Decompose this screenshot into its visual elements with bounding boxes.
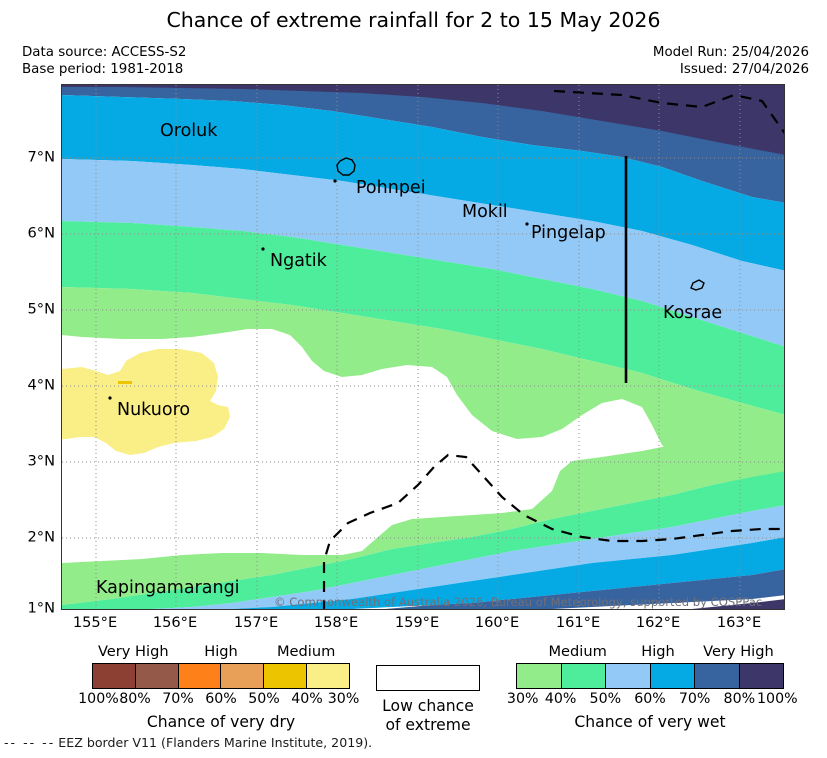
latitude-tick-2N: 2°N	[28, 529, 56, 546]
legend-very-wet-tick-60pct: 60%	[634, 691, 666, 707]
place-dot-nukuoro	[108, 396, 111, 399]
place-label-kosrae: Kosrae	[663, 303, 722, 323]
model-run-text: Model Run: 25/04/2026	[653, 44, 809, 61]
legend-very-dry-tick-40pct: 40%	[291, 691, 323, 707]
place-label-pohnpei: Pohnpei	[356, 178, 426, 198]
legend-low-chance[interactable]: Low chance of extreme	[376, 665, 480, 735]
legend-low-chance-caption: Low chance of extreme	[376, 697, 480, 735]
legend-very-dry-tick-60pct: 60%	[205, 691, 237, 707]
place-label-kapingamarangi: Kapingamarangi	[96, 578, 240, 598]
place-dot-pohnpei	[333, 179, 336, 182]
latitude-tick-3N: 3°N	[28, 453, 56, 470]
legend-very-dry-colorbar[interactable]	[92, 663, 350, 689]
legend-very-wet-tick-40pct: 40%	[545, 691, 577, 707]
page-title: Chance of extreme rainfall for 2 to 15 M…	[0, 8, 827, 32]
metadata-left: Data source: ACCESS-S2 Base period: 1981…	[22, 44, 186, 78]
latitude-tick-4N: 4°N	[28, 377, 56, 394]
legend-very-wet-category-medium: Medium	[548, 643, 606, 660]
data-source-text: Data source: ACCESS-S2	[22, 44, 186, 61]
metadata-right: Model Run: 25/04/2026 Issued: 27/04/2026	[653, 44, 809, 78]
legend-very-wet-swatch-3[interactable]	[651, 664, 696, 688]
legend-very-wet-tick-50pct: 50%	[590, 691, 622, 707]
legend-very-dry-category-high: High	[204, 643, 238, 660]
legend-very-dry-swatch-0[interactable]	[93, 664, 136, 688]
longitude-tick-161E: 161°E	[556, 614, 600, 631]
latitude-tick-5N: 5°N	[28, 301, 56, 318]
place-label-oroluk: Oroluk	[160, 121, 218, 141]
place-label-mokil: Mokil	[462, 202, 508, 222]
rainfall-contour-map[interactable]: Oroluk Pohnpei Mokil Pingelap Ngatik Kos…	[62, 85, 785, 610]
legend-very-wet-tick-30pct: 30%	[507, 691, 539, 707]
legend-very-wet-swatch-5[interactable]	[740, 664, 784, 688]
longitude-axis-labels: 155°E156°E157°E158°E159°E160°E161°E162°E…	[61, 614, 785, 640]
legend-very-wet[interactable]: MediumHighVery High 30%40%50%60%70%80%10…	[516, 643, 784, 731]
legend-very-dry-ticks: 100%80%70%60%50%40%30%	[92, 691, 350, 711]
legend-very-dry-tick-70pct: 70%	[162, 691, 194, 707]
place-label-nukuoro: Nukuoro	[117, 400, 190, 420]
place-label-ngatik: Ngatik	[270, 251, 328, 271]
legend-very-wet-colorbar[interactable]	[516, 663, 784, 689]
latitude-tick-7N: 7°N	[28, 149, 56, 166]
legend-very-wet-tick-100pct: 100%	[757, 691, 798, 707]
issued-text: Issued: 27/04/2026	[653, 61, 809, 78]
legend-very-dry-swatch-3[interactable]	[221, 664, 264, 688]
legend-very-dry-category-medium: Medium	[277, 643, 335, 660]
legend-very-wet-swatch-1[interactable]	[562, 664, 607, 688]
latitude-tick-1N: 1°N	[28, 600, 56, 617]
legend-very-wet-tick-70pct: 70%	[679, 691, 711, 707]
legend-very-wet-swatch-2[interactable]	[606, 664, 651, 688]
legend-very-dry-swatch-4[interactable]	[264, 664, 307, 688]
legend-low-chance-line2: of extreme	[376, 716, 480, 735]
legend-very-wet-category-very-high: Very High	[703, 643, 774, 660]
legend-very-wet-tick-80pct: 80%	[724, 691, 756, 707]
place-label-pingelap: Pingelap	[531, 223, 606, 243]
longitude-tick-156E: 156°E	[153, 614, 197, 631]
legend-low-chance-line1: Low chance	[376, 697, 480, 716]
legend-very-dry-tick-100pct: 100%	[78, 691, 119, 707]
latitude-tick-6N: 6°N	[28, 225, 56, 242]
legend-very-dry-tick-80pct: 80%	[119, 691, 151, 707]
eez-footnote: -- -- --EEZ border V11 (Flanders Marine …	[4, 735, 372, 750]
legend-very-wet-swatch-4[interactable]	[695, 664, 740, 688]
legend-very-wet-ticks: 30%40%50%60%70%80%100%	[516, 691, 784, 711]
longitude-tick-157E: 157°E	[234, 614, 278, 631]
rainfall-forecast-map-page: Chance of extreme rainfall for 2 to 15 M…	[0, 0, 827, 758]
legend-low-chance-swatch	[376, 665, 480, 691]
eez-dash-sample: -- -- --	[4, 735, 55, 750]
legend-very-dry-category-very-high: Very High	[98, 643, 169, 660]
longitude-tick-162E: 162°E	[636, 614, 680, 631]
legend-very-wet-swatch-0[interactable]	[517, 664, 562, 688]
place-dot-pingelap	[525, 222, 528, 225]
legend-very-dry[interactable]: Very HighHighMedium 100%80%70%60%50%40%3…	[92, 643, 350, 731]
place-dot-ngatik	[261, 247, 264, 250]
longitude-tick-155E: 155°E	[73, 614, 117, 631]
legend-very-wet-category-high: High	[641, 643, 675, 660]
legend-very-dry-tick-30pct: 30%	[328, 691, 360, 707]
map-plot-area[interactable]: Oroluk Pohnpei Mokil Pingelap Ngatik Kos…	[61, 84, 785, 610]
latitude-axis-labels: 7°N6°N5°N4°N3°N2°N1°N	[0, 84, 55, 610]
legend-very-dry-swatch-2[interactable]	[179, 664, 222, 688]
eez-footnote-text: EEZ border V11 (Flanders Marine Institut…	[58, 735, 372, 750]
legend-very-dry-caption: Chance of very dry	[92, 713, 350, 731]
base-period-text: Base period: 1981-2018	[22, 61, 186, 78]
longitude-tick-159E: 159°E	[395, 614, 439, 631]
legend-very-wet-categories: MediumHighVery High	[516, 643, 784, 663]
legend-very-dry-swatch-5[interactable]	[307, 664, 349, 688]
legend-very-dry-swatch-1[interactable]	[136, 664, 179, 688]
map-copyright-text: © Commonwealth of Australia 2026, Bureau…	[274, 595, 762, 609]
legend-very-wet-caption: Chance of very wet	[516, 713, 784, 731]
legend-very-dry-categories: Very HighHighMedium	[92, 643, 350, 663]
map-plot-frame: Oroluk Pohnpei Mokil Pingelap Ngatik Kos…	[61, 84, 785, 610]
longitude-tick-160E: 160°E	[475, 614, 519, 631]
legend-very-dry-tick-50pct: 50%	[248, 691, 280, 707]
longitude-tick-163E: 163°E	[717, 614, 761, 631]
longitude-tick-158E: 158°E	[314, 614, 358, 631]
